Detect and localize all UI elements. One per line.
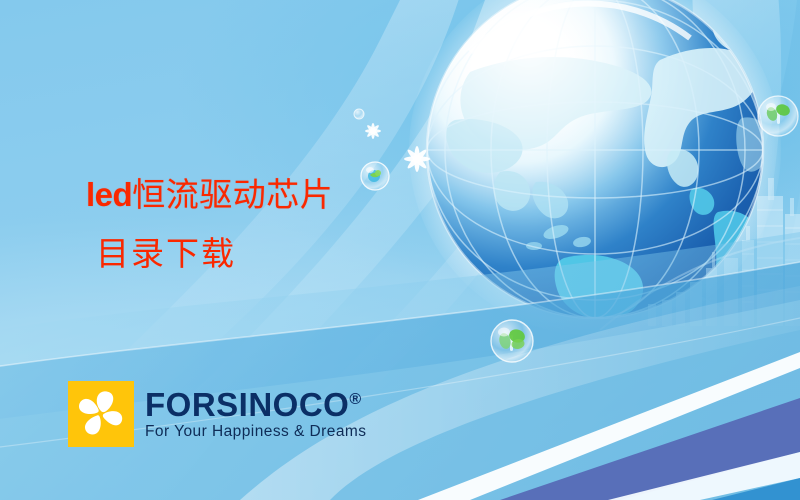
globe-continents bbox=[446, 14, 770, 336]
headline-line-1: led恒流驱动芯片 bbox=[86, 163, 333, 227]
bubble-globe-right-icon bbox=[758, 96, 798, 136]
registered-trademark-symbol: ® bbox=[349, 391, 361, 408]
bubble-tiny-top-icon bbox=[354, 109, 364, 119]
pinwheel-petals-icon bbox=[68, 381, 134, 447]
globe-grid-lines bbox=[427, 0, 763, 318]
corner-stripe-group bbox=[418, 352, 800, 500]
city-skyline-silhouette bbox=[600, 178, 800, 330]
flower-asterisk-small-icon bbox=[365, 123, 381, 139]
company-logo: FORSINOCO® For Your Happiness & Dreams bbox=[68, 381, 367, 447]
logo-wordmark: FORSINOCO® For Your Happiness & Dreams bbox=[145, 387, 367, 441]
banner-image: led恒流驱动芯片 目录下载 FORSINOCO® For Your Happi… bbox=[0, 0, 800, 500]
logo-mark-square bbox=[68, 381, 134, 447]
flower-asterisk-large-icon bbox=[404, 146, 430, 172]
earth-globe bbox=[409, 0, 781, 336]
brand-name: FORSINOCO® bbox=[145, 389, 367, 421]
brand-tagline: For Your Happiness & Dreams bbox=[145, 423, 367, 441]
headline-line-2: 目录下载 bbox=[96, 227, 236, 275]
headline-latin-text: led bbox=[86, 176, 132, 213]
brand-name-text: FORSINOCO bbox=[145, 386, 349, 423]
bubble-sprout-icon bbox=[491, 320, 533, 362]
headline-cjk-text: 恒流驱动芯片 bbox=[132, 175, 333, 214]
bubble-globe-icon bbox=[361, 162, 389, 190]
